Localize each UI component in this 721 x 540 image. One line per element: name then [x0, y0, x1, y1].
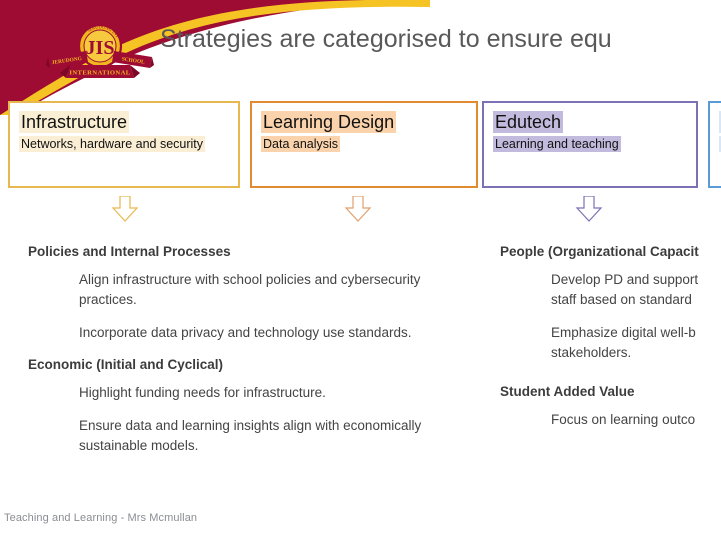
- category-card-people[interactable]: P F i: [708, 101, 721, 188]
- school-crest-logo: JIS JERUDONG INT JERUDONG SCHOOL INTERNA…: [46, 21, 154, 83]
- section-item-student-added-value-1: Focus on learning outco: [526, 410, 721, 430]
- slide-canvas: JIS JERUDONG INT JERUDONG SCHOOL INTERNA…: [0, 0, 721, 540]
- section-item-people-1-line-1: Develop PD and support: [551, 270, 721, 290]
- category-card-learning-design[interactable]: Learning Design Data analysis: [250, 101, 478, 188]
- category-subtitle-edutech: Learning and teaching: [493, 136, 621, 152]
- section-heading-economic: Economic (Initial and Cyclical): [28, 356, 428, 374]
- footer-text: Teaching and Learning - Mrs Mcmullan: [4, 512, 197, 524]
- section-item-people-1: Develop PD and support staff based on st…: [526, 270, 721, 310]
- down-arrow-icon-edutech: [574, 196, 604, 222]
- section-item-people-2-line-1: Emphasize digital well-b: [551, 323, 721, 343]
- section-item-policies-2: Incorporate data privacy and technology …: [54, 323, 428, 343]
- category-card-edutech[interactable]: Edutech Learning and teaching: [482, 101, 698, 188]
- section-item-economic-1: Highlight funding needs for infrastructu…: [54, 383, 428, 403]
- category-title-learning-design: Learning Design: [261, 111, 396, 133]
- logo-monogram: JIS: [86, 37, 115, 59]
- section-item-economic-2: Ensure data and learning insights align …: [54, 416, 428, 456]
- page-title: Strategies are categorised to ensure equ: [160, 24, 721, 54]
- section-heading-people: People (Organizational Capacit: [500, 243, 721, 261]
- content-column-left: Policies and Internal Processes Align in…: [28, 243, 428, 456]
- category-title-infrastructure: Infrastructure: [19, 111, 129, 133]
- category-subtitle-infrastructure: Networks, hardware and security: [19, 136, 205, 152]
- section-item-people-2: Emphasize digital well-b stakeholders.: [526, 323, 721, 363]
- category-title-edutech: Edutech: [493, 111, 563, 133]
- section-item-people-2-line-2: stakeholders.: [551, 343, 721, 363]
- section-item-people-1-line-2: staff based on standard: [551, 290, 721, 310]
- section-heading-policies: Policies and Internal Processes: [28, 243, 428, 261]
- section-heading-student-added-value: Student Added Value: [500, 383, 721, 401]
- category-subtitle-learning-design: Data analysis: [261, 136, 340, 152]
- logo-banner-text: INTERNATIONAL: [69, 70, 130, 77]
- category-card-infrastructure[interactable]: Infrastructure Networks, hardware and se…: [8, 101, 240, 188]
- down-arrow-icon-infrastructure: [110, 196, 140, 222]
- section-item-policies-1: Align infrastructure with school policie…: [54, 270, 428, 310]
- content-column-right: People (Organizational Capacit Develop P…: [500, 243, 721, 430]
- down-arrow-icon-learning-design: [343, 196, 373, 222]
